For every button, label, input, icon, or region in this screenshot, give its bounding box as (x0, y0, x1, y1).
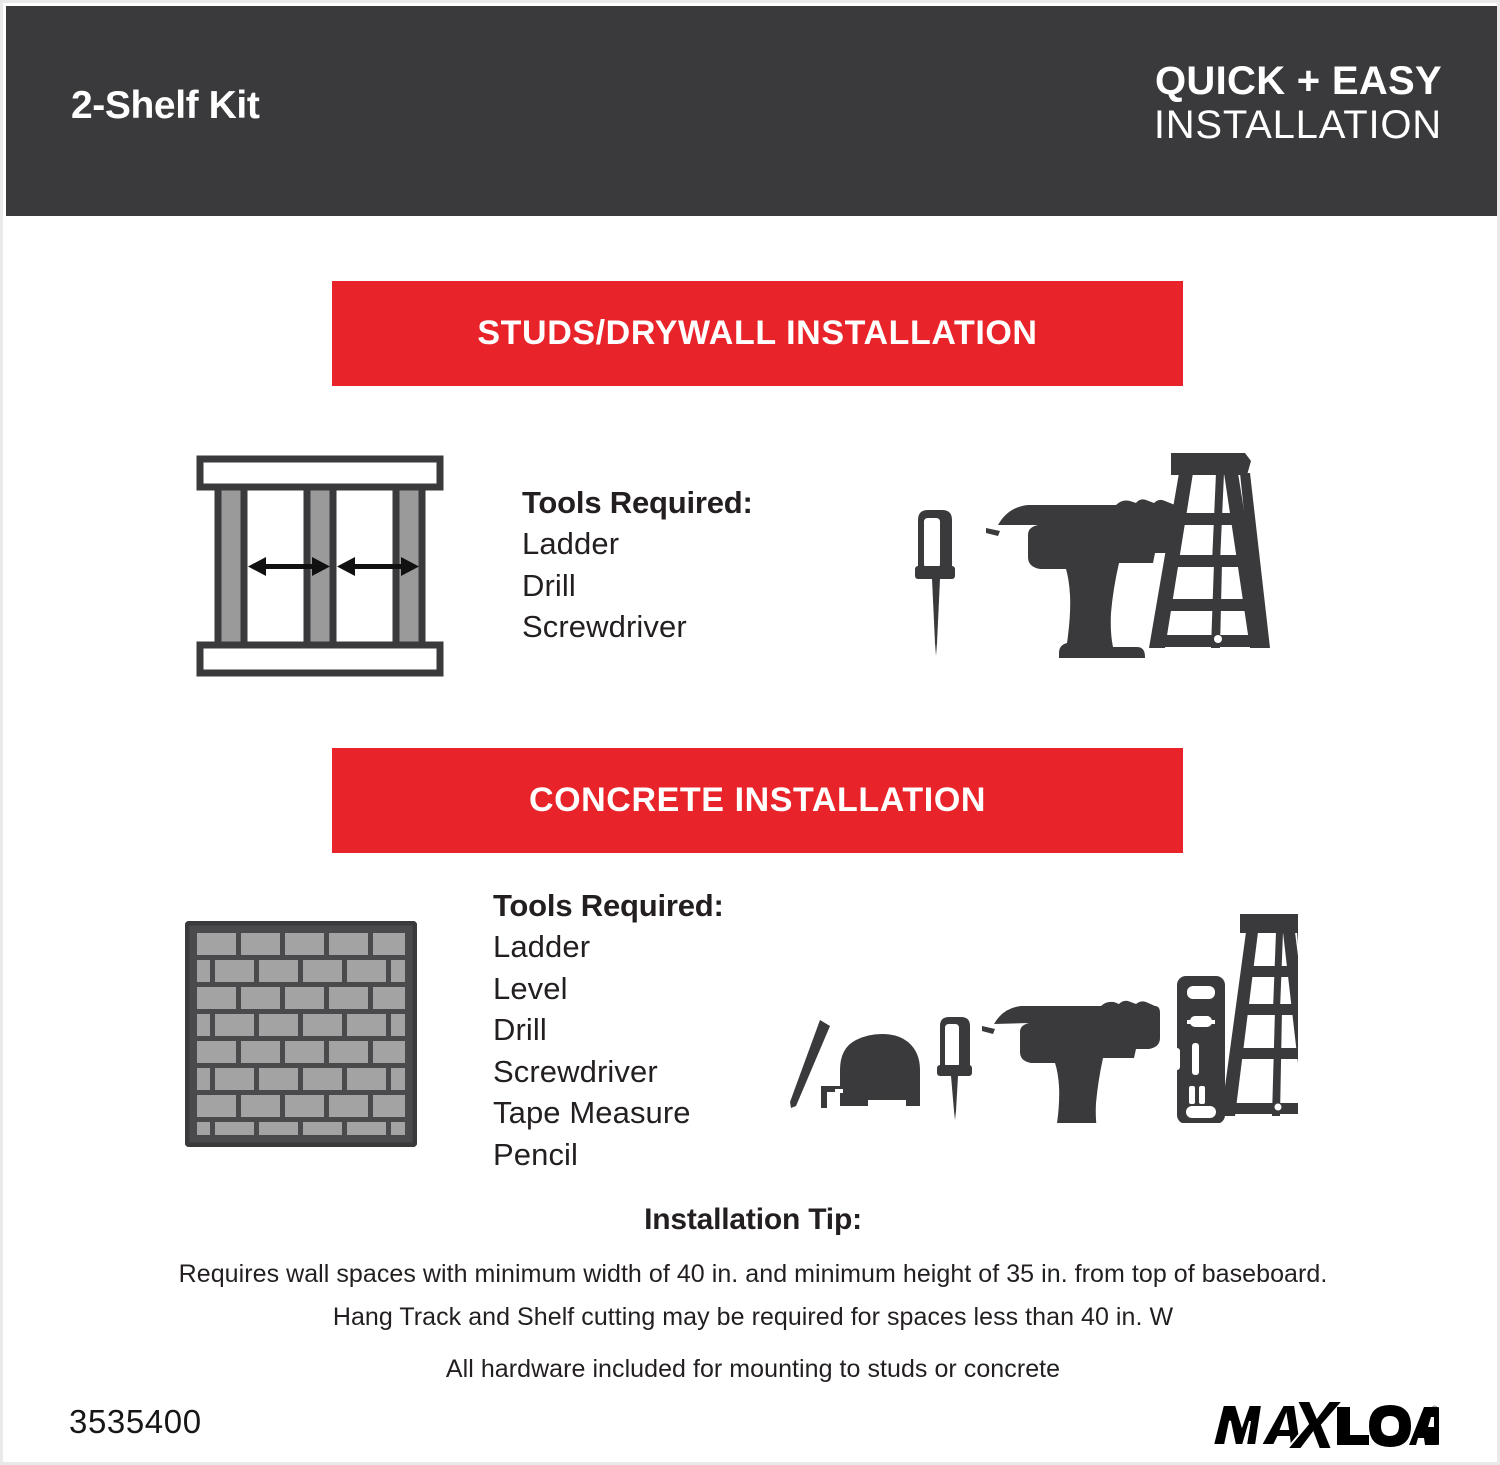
brick-wall-diagram (185, 921, 417, 1147)
tool-item: Screwdriver (493, 1051, 724, 1093)
header-tagline: QUICK + EASY INSTALLATION (1154, 60, 1442, 148)
screwdriver-icon (915, 510, 955, 656)
stud-wall-diagram (196, 455, 444, 677)
page-header: 2-Shelf Kit QUICK + EASY INSTALLATION (6, 6, 1500, 216)
tool-item: Drill (493, 1009, 724, 1051)
banner-concrete-label: CONCRETE INSTALLATION (529, 781, 986, 820)
level-icon (1174, 976, 1225, 1123)
hardware-note: All hardware included for mounting to st… (3, 1355, 1500, 1384)
installation-tip-line-1: Requires wall spaces with minimum width … (3, 1253, 1500, 1296)
tool-item: Ladder (493, 926, 724, 968)
tool-item: Tape Measure (493, 1092, 724, 1134)
tagline-installation: INSTALLATION (1154, 103, 1442, 148)
installation-instruction-sheet: 2-Shelf Kit QUICK + EASY INSTALLATION ST… (0, 0, 1500, 1465)
ladder-icon (1221, 914, 1298, 1116)
logo-max (1213, 1401, 1343, 1449)
part-number: 3535400 (69, 1403, 202, 1441)
tape-measure-icon (821, 1034, 920, 1108)
tools-heading-studs: Tools Required: (522, 485, 753, 521)
page-title: 2-Shelf Kit (71, 84, 259, 128)
tool-item: Pencil (493, 1134, 724, 1176)
drill-icon (982, 1001, 1160, 1123)
logo-trademark: ® (1432, 1405, 1438, 1413)
tool-icons-studs (898, 443, 1298, 658)
installation-tip-block: Installation Tip: Requires wall spaces w… (3, 1203, 1500, 1339)
tool-icons-concrete (778, 908, 1298, 1123)
tool-item: Screwdriver (522, 606, 753, 648)
banner-studs-drywall: STUDS/DRYWALL INSTALLATION (332, 281, 1183, 386)
tool-item: Ladder (522, 523, 753, 565)
maxload-logo: ® (1209, 1397, 1439, 1453)
tools-required-concrete: Tools Required: Ladder Level Drill Screw… (493, 888, 724, 1175)
ladder-icon (1149, 453, 1270, 648)
screwdriver-icon (937, 1017, 972, 1120)
tool-item: Drill (522, 565, 753, 607)
logo-load (1337, 1405, 1439, 1447)
tools-required-studs: Tools Required: Ladder Drill Screwdriver (522, 485, 753, 648)
installation-tip-heading: Installation Tip: (3, 1203, 1500, 1237)
installation-tip-line-2: Hang Track and Shelf cutting may be requ… (3, 1296, 1500, 1339)
banner-concrete: CONCRETE INSTALLATION (332, 748, 1183, 853)
tool-item: Level (493, 968, 724, 1010)
tagline-quick-easy: QUICK + EASY (1154, 60, 1442, 103)
tools-heading-concrete: Tools Required: (493, 888, 724, 924)
banner-studs-label: STUDS/DRYWALL INSTALLATION (477, 314, 1037, 353)
